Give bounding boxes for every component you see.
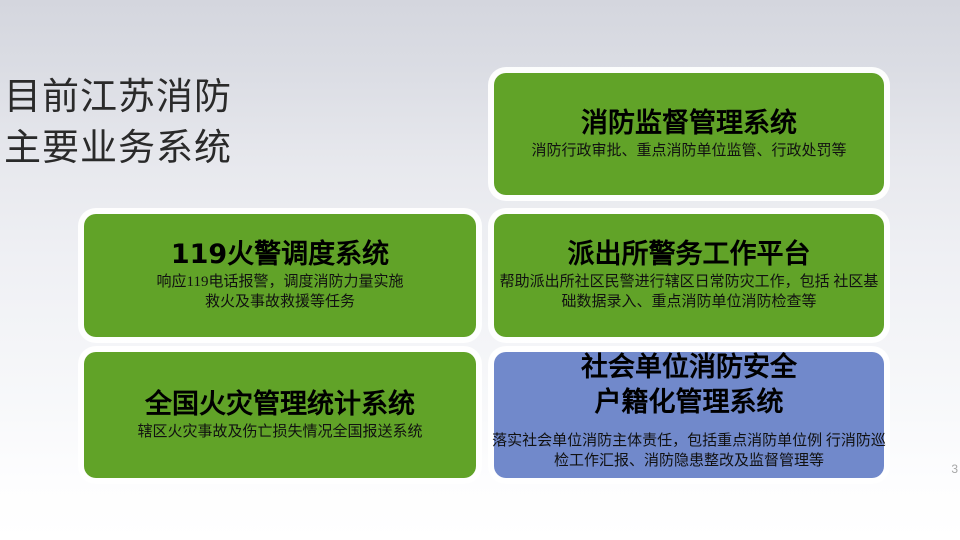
system-card-title: 消防监督管理系统 (581, 108, 797, 140)
system-card-police-platform[interactable]: 派出所警务工作平台 帮助派出所社区民警进行辖区日常防灾工作，包括 社区基础数据录… (494, 214, 884, 337)
system-card-subtitle: 响应119电话报警，调度消防力量实施救火及事故救援等任务 (153, 272, 408, 312)
page-title: 目前江苏消防 主要业务系统 (4, 72, 304, 174)
system-card-fire-statistics[interactable]: 全国火灾管理统计系统 辖区火灾事故及伤亡损失情况全国报送系统 (84, 352, 476, 478)
system-card-subtitle: 辖区火灾事故及伤亡损失情况全国报送系统 (137, 422, 422, 442)
page-number: 3 (951, 462, 958, 476)
system-card-household-management[interactable]: 社会单位消防安全 户籍化管理系统 落实社会单位消防主体责任，包括重点消防单位例 … (494, 352, 884, 478)
system-card-title: 社会单位消防安全 户籍化管理系统 (581, 350, 797, 420)
system-card-title: 派出所警务工作平台 (568, 239, 811, 271)
system-card-title: 全国火灾管理统计系统 (145, 389, 415, 421)
system-card-dispatch[interactable]: 119火警调度系统 响应119电话报警，调度消防力量实施救火及事故救援等任务 (84, 214, 476, 337)
system-card-subtitle: 落实社会单位消防主体责任，包括重点消防单位例 行消防巡检工作汇报、消防隐患整改及… (491, 431, 887, 471)
slide-canvas: 目前江苏消防 主要业务系统 消防监督管理系统 消防行政审批、重点消防单位监管、行… (0, 0, 960, 540)
system-card-title: 119火警调度系统 (171, 239, 389, 271)
system-card-subtitle: 帮助派出所社区民警进行辖区日常防灾工作，包括 社区基础数据录入、重点消防单位消防… (498, 272, 880, 312)
system-card-supervision[interactable]: 消防监督管理系统 消防行政审批、重点消防单位监管、行政处罚等 (494, 73, 884, 195)
system-card-subtitle: 消防行政审批、重点消防单位监管、行政处罚等 (531, 141, 846, 161)
